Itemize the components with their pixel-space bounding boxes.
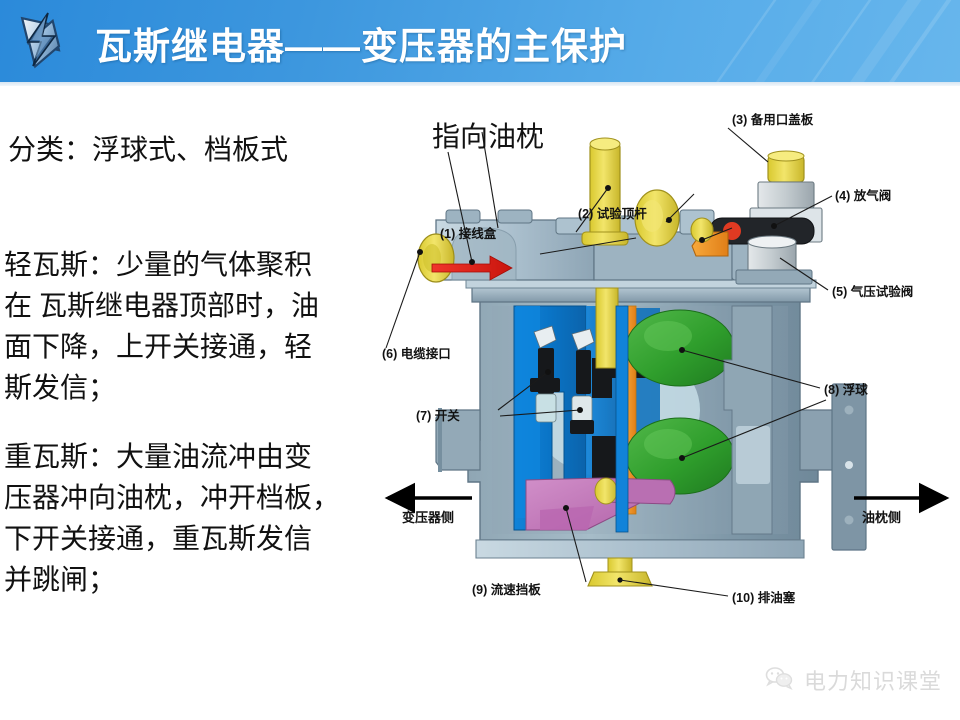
watermark: 电力知识课堂 (765, 664, 942, 696)
label-10-drain-plug: (10) 排油塞 (732, 590, 796, 605)
buchholz-relay-diagram: 指向油枕 (1) 接线盒 (2) 试验顶杆 (3) 备用口盖板 (4) 放气阀 … (380, 110, 960, 650)
text-heavy-gas: 重瓦斯：大量油流冲由变 压器冲向油枕，冲开档板， 下开关接通，重瓦斯发信 并跳闸… (4, 437, 384, 601)
label-2-test-rod: (2) 试验顶杆 (578, 206, 647, 221)
callout-oil-conservator: 指向油枕 (432, 121, 544, 153)
slide-root: 瓦斯继电器——变压器的主保护 分类：浮球式、档板式 轻瓦斯：少量的气体聚积 在 … (0, 0, 960, 720)
page-title: 瓦斯继电器——变压器的主保护 (95, 16, 627, 70)
watermark-text: 电力知识课堂 (804, 664, 942, 696)
label-4-release-valve: (4) 放气阀 (835, 188, 891, 203)
label-9-flow-baffle: (9) 流速挡板 (472, 582, 541, 597)
header-underline (0, 82, 960, 86)
text-light-gas: 轻瓦斯：少量的气体聚积 在 瓦斯继电器顶部时，油 面下降，上开关接通，轻 斯发信… (4, 245, 384, 409)
header-streak (696, 0, 790, 82)
wechat-icon (765, 666, 795, 695)
label-7-switch: (7) 开关 (416, 408, 460, 423)
label-6-cable-port: (6) 电缆接口 (382, 346, 451, 361)
text-classification: 分类：浮球式、档板式 (8, 130, 288, 171)
label-1-junction-box: (1) 接线盒 (440, 226, 497, 241)
lightning-diamond-logo-icon (4, 4, 80, 76)
label-conservator-side: 油枕侧 (862, 510, 901, 525)
label-8-float: (8) 浮球 (824, 382, 868, 397)
label-3-spare-cover: (3) 备用口盖板 (732, 112, 814, 127)
label-transformer-side: 变压器侧 (402, 510, 454, 525)
label-5-pressure-test-valve: (5) 气压试验阀 (832, 284, 913, 299)
